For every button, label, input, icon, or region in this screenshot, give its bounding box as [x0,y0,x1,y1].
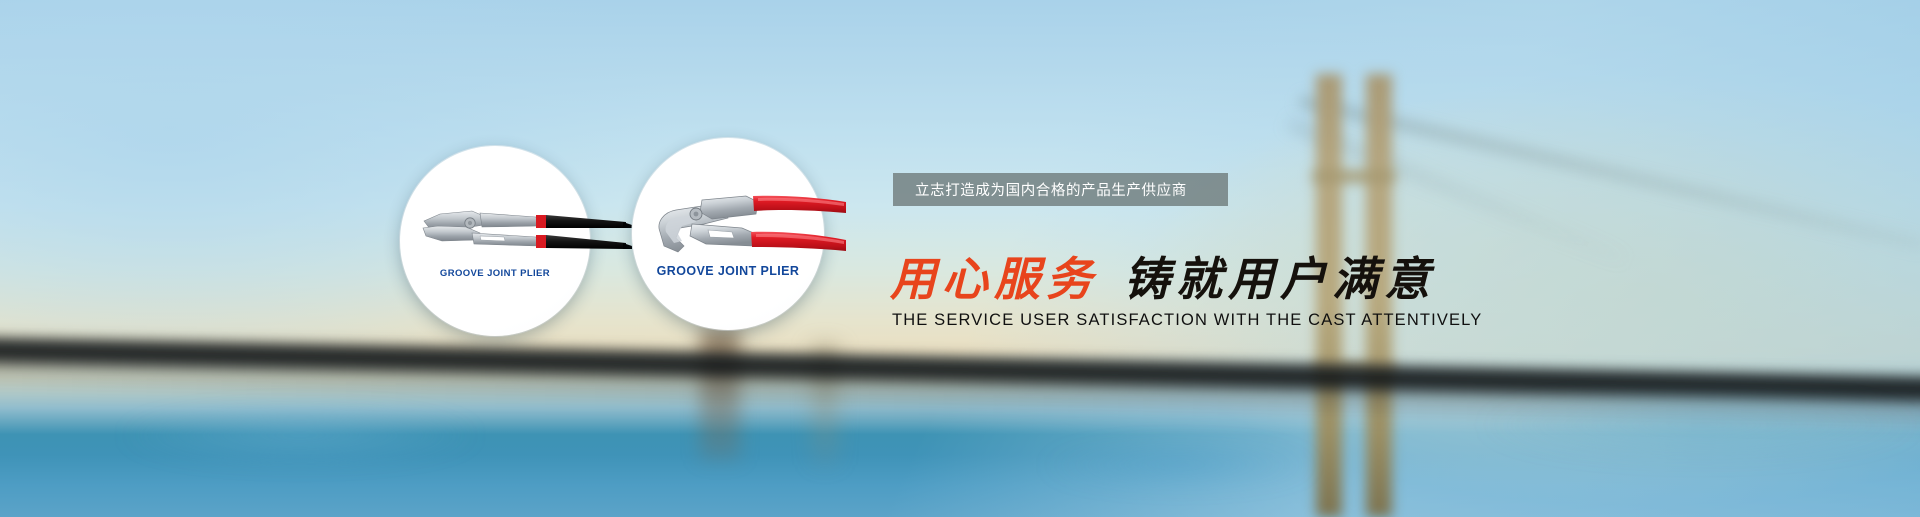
headline-rest: 铸就用户满意 [1124,252,1436,306]
tagline-banner: 立志打造成为国内合格的产品生产供应商 [893,173,1228,206]
bridge-tower-brace-upper [1312,170,1396,183]
water-highlights [0,395,1920,517]
groove-joint-plier-red-icon [650,186,850,272]
subtitle: THE SERVICE USER SATISFACTION WITH THE C… [892,311,1482,330]
promo-banner: GROOVE JOINT PLIER [0,0,1920,517]
headline: 用心服务铸就用户满意 [890,243,1436,309]
product-circle-groove-joint-plier-red[interactable]: GROOVE JOINT PLIER [632,138,824,330]
product-label: GROOVE JOINT PLIER [400,268,590,279]
product-label: GROOVE JOINT PLIER [632,264,824,278]
headline-highlight: 用心服务 [890,252,1098,306]
product-circle-groove-joint-plier-black[interactable]: GROOVE JOINT PLIER [400,146,590,336]
tagline-text: 立志打造成为国内合格的产品生产供应商 [915,179,1187,200]
groove-joint-plier-black-icon [420,203,635,265]
